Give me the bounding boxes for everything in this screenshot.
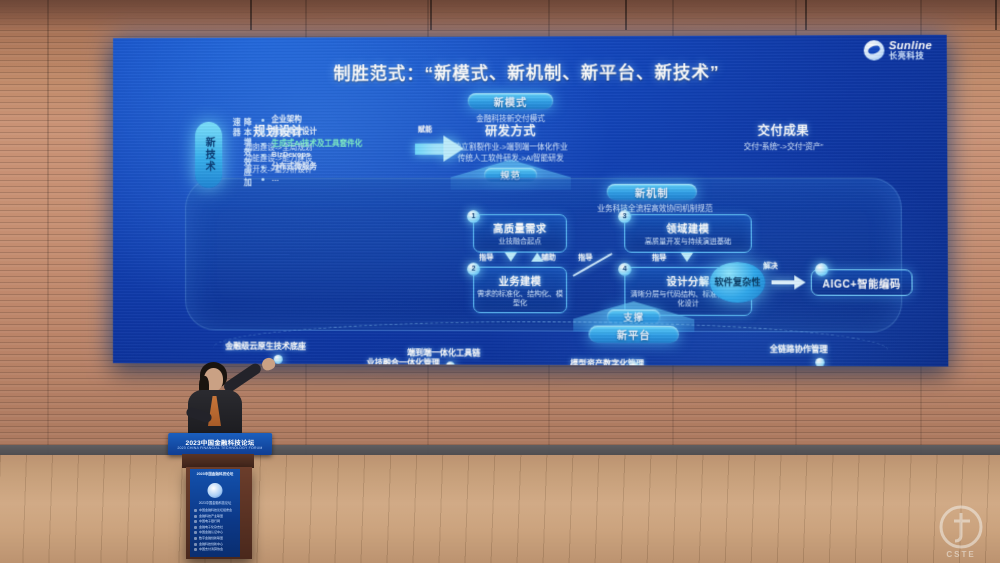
header-delivery: 交付成果 交付“系统”->交付“资产” [701,122,866,154]
stage-floor [0,455,1000,563]
podium-panel-header: 2023中国金融科技论坛 [190,472,240,477]
arrow-down-guide-left [505,253,517,262]
label-assist: 辅助 [541,253,555,263]
list-item: 领域模型设计 [261,127,402,136]
header-delivery-line-1: 交付“系统”->交付“资产” [701,142,866,153]
arrow-head-icon [794,275,805,289]
brand-name-cn: 长亮科技 [889,52,932,60]
label-guide-right: 指导 [652,253,666,263]
ceiling-seam [625,0,627,30]
box-high-quality-demand: 高质量需求 业技融合起点 [473,214,567,252]
box-3-subtitle: 高质量开发与持续演进基础 [625,237,751,247]
led-presentation-screen: 制胜范式：“新模式、新机制、新平台、新技术” Sunline 长亮科技 新模式 … [113,35,948,367]
list-item: … [261,175,402,183]
podium-neck [182,454,254,468]
arrow-body [415,144,445,155]
node-badge-3: 3 [618,210,631,223]
vertical-accelerator-text: 降本增效效应加速器 [231,118,253,196]
header-delivery-title: 交付成果 [701,122,866,140]
arrow-down-guide-right [681,253,693,262]
ellipse-software-complexity: 软件复杂性 [710,262,766,303]
platform-item-label-5: 全链路协作管理 [770,343,828,354]
box-1-subtitle: 业技融合起点 [474,237,566,247]
platform-item-dot-5 [815,358,824,367]
floor-plank-lines [0,455,1000,563]
podium-top-banner: 2023中国金融科技论坛 2023 CHINA FINANCIAL TECHNO… [168,433,272,455]
forum-emblem-icon [208,483,223,498]
ceiling-seam [805,0,807,30]
brand-text: Sunline 长亮科技 [889,40,933,60]
slide-title: 制胜范式：“新模式、新机制、新平台、新技术” [113,57,947,85]
box-3-title: 领域建模 [625,220,751,235]
sunline-swoosh-icon [864,40,885,60]
list-item: 金融科技创新中心 [194,543,237,546]
list-item: 生成式AI技术及工具套件化 [261,139,402,147]
watermark-text: CSTE [930,550,992,559]
badge-new-mode: 新模式 [468,93,554,109]
list-item: 中国支付清算协会 [194,548,237,551]
node-badge-output [815,263,829,276]
label-guide-mid: 指导 [578,253,592,263]
badge-new-mechanism-subtitle: 业务科技全流程高效协同机制规范 [568,203,743,214]
podium-front-panel: 2023中国金融科技论坛 2023中国金融科技论坛 中国金融科技论坛组委会 金融… [190,469,240,557]
box-domain-modeling: 领域建模 高质量开发与持续演进基础 [624,214,752,253]
speaker-podium: 2023中国金融科技论坛 2023 CHINA FINANCIAL TECHNO… [168,433,272,559]
sunline-brand-logo: Sunline 长亮科技 [864,40,932,61]
capsule-new-tech-label: 新技术 [201,137,216,173]
label-resolve: 解决 [763,261,777,271]
box-2-title: 业务建模 [474,273,566,288]
list-item: 金融电子化杂志社 [194,526,237,529]
broadcaster-watermark: CSTE [930,501,992,559]
list-item: 中国金融认证中心 [194,531,237,534]
enable-flow-arrow: 赋能 [415,135,464,161]
list-item: 分布式微服务 [261,163,402,171]
list-item: 中国金融科技论坛组委会 [194,509,237,512]
ceiling-band [0,0,1000,30]
badge-new-mechanism: 新机制 [607,184,697,200]
ceiling-seam [250,0,252,30]
node-badge-4: 4 [618,263,631,276]
list-item: 金融科技产业联盟 [194,515,237,518]
list-item: 数字金融创新联盟 [194,537,237,540]
platform-item-label-1: 金融级云原生技术底座 [225,341,306,352]
capsule-new-tech: 新技术 [195,122,222,188]
podium-sponsor-list: 中国金融科技论坛组委会 金融科技产业联盟 中国电子银行网 金融电子化杂志社 中国… [194,509,237,554]
podium-banner-subtitle: 2023 CHINA FINANCIAL TECHNOLOGY FORUM [168,446,272,450]
speaker-hand [260,356,276,372]
resolve-arrow [772,277,807,287]
node-badge-2: 2 [467,263,480,276]
ceiling-seam [430,0,432,30]
list-item: 中国电子银行网 [194,520,237,523]
screenshot-root: 制胜范式：“新模式、新机制、新平台、新技术” Sunline 长亮科技 新模式 … [0,0,1000,563]
arrow-head-icon [443,135,463,161]
ceiling-seam [995,0,997,30]
new-tech-bullet-list: 企业架构 领域模型设计 生成式AI技术及工具套件化 BizDevops 分布式微… [261,115,402,186]
list-item: BizDevops [261,151,402,159]
list-item: 企业架构 [261,115,402,124]
arrow-body [772,280,797,284]
box-business-modeling: 业务建模 需求的标准化、结构化、模型化 [473,267,567,314]
box-2-subtitle: 需求的标准化、结构化、模型化 [474,290,566,309]
brand-name-en: Sunline [889,40,932,51]
box-1-title: 高质量需求 [474,220,566,235]
podium-seal-caption: 2023中国金融科技论坛 [190,500,240,505]
enable-flow-arrow-label: 赋能 [418,124,432,134]
node-badge-1: 1 [467,210,480,223]
label-guide-left: 指导 [479,252,493,262]
